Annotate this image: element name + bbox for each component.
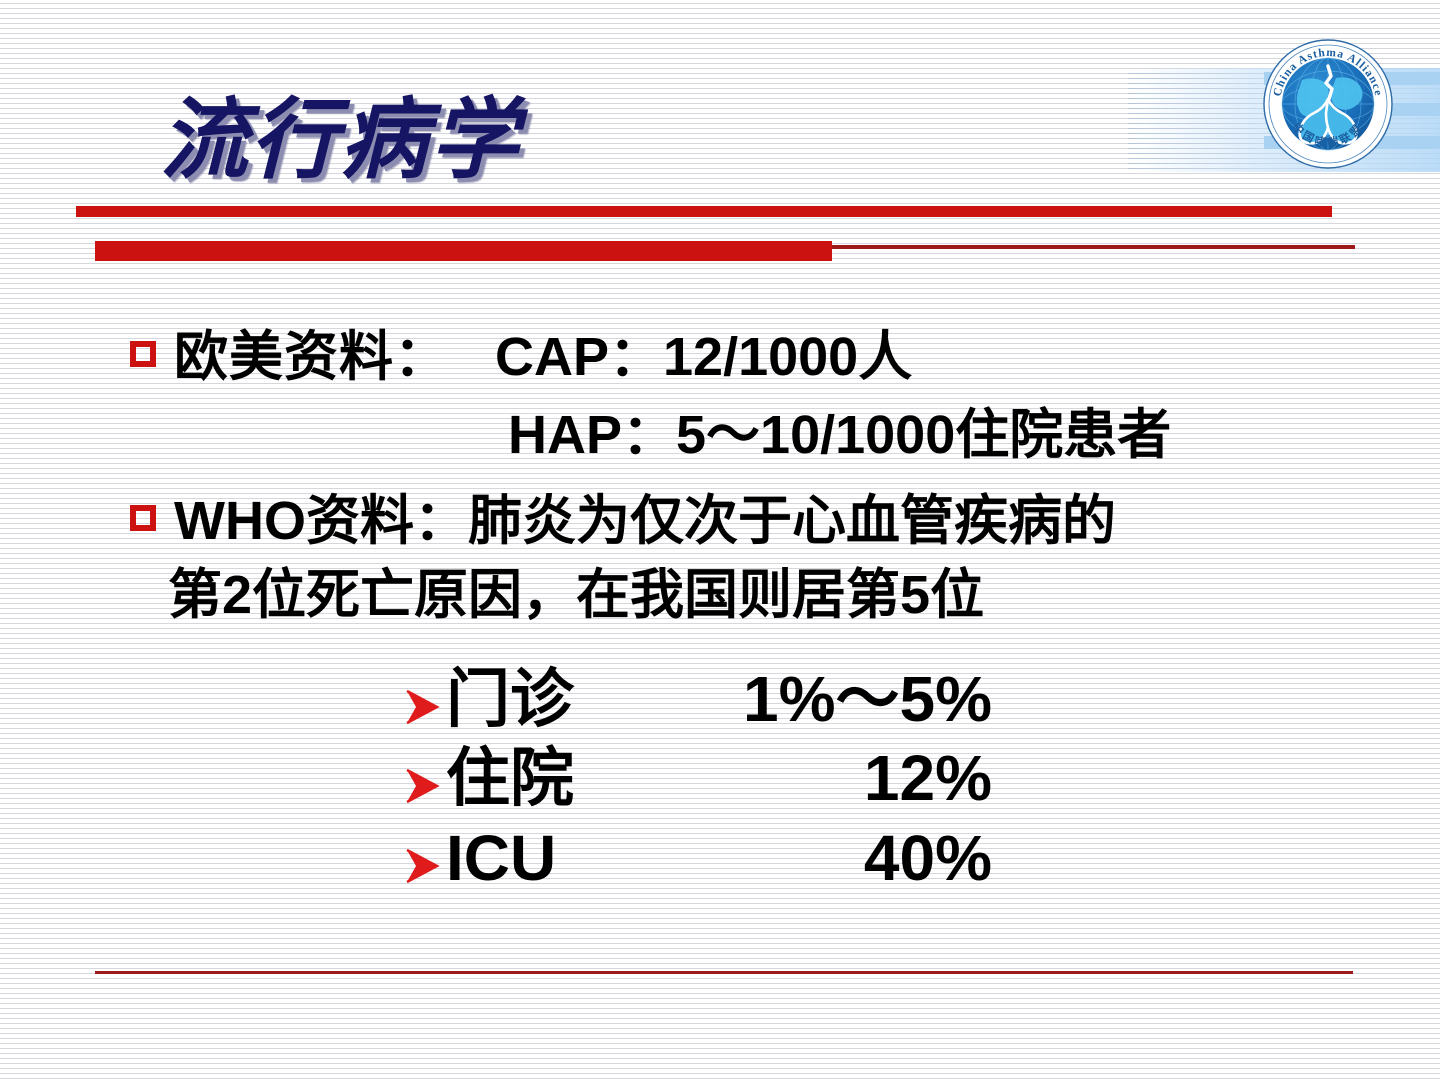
list-item-label: 住院 <box>446 739 632 818</box>
list-item: 第2位死亡原因，在我国则居第5位 <box>0 568 1440 622</box>
list-item: 门诊1%～5% <box>404 660 1440 739</box>
arrow-bullet-icon <box>404 745 440 785</box>
list-item-value: 12% <box>632 739 992 818</box>
list-item-label: ICU <box>446 819 632 898</box>
divider-bar-second <box>95 241 832 261</box>
arrow-bullet-icon <box>404 666 440 706</box>
list-item-label: 欧美资料： <box>174 327 449 387</box>
slide-body: 欧美资料：CAP：12/1000人 HAP：5～10/1000住院患者 WHO资… <box>0 330 1440 898</box>
list-item: 住院12% <box>404 739 1440 818</box>
china-asthma-alliance-logo: China Asthma Alliance 中国哮喘联盟 <box>1262 38 1394 170</box>
arrow-bullet-icon <box>404 825 440 865</box>
list-item-value: CAP：12/1000人 <box>495 327 912 387</box>
list-item-label: 门诊 <box>446 660 632 739</box>
list-item: WHO资料：肺炎为仅次于心血管疾病的 <box>0 494 1440 548</box>
list-item-value: 1%～5% <box>632 660 992 739</box>
list-item: 欧美资料：CAP：12/1000人 <box>0 330 1440 384</box>
divider-bar-top <box>76 206 1332 217</box>
list-item-value: 第2位死亡原因，在我国则居第5位 <box>168 565 984 625</box>
list-item: HAP：5～10/1000住院患者 <box>0 408 1440 462</box>
list-item-value: WHO资料：肺炎为仅次于心血管疾病的 <box>174 491 1116 551</box>
divider-line-bottom <box>95 971 1353 974</box>
square-bullet-icon <box>130 341 156 367</box>
list-item: ICU40% <box>404 819 1440 898</box>
mortality-list: 门诊1%～5% 住院12% ICU40% <box>0 660 1440 898</box>
list-item-value: 40% <box>632 819 992 898</box>
page-title: 流行病学 <box>160 96 520 184</box>
presentation-slide: China Asthma Alliance 中国哮喘联盟 流行病学 欧美资料：C… <box>0 0 1440 1080</box>
square-bullet-icon <box>130 505 156 531</box>
list-item-value: HAP：5～10/1000住院患者 <box>508 405 1171 465</box>
